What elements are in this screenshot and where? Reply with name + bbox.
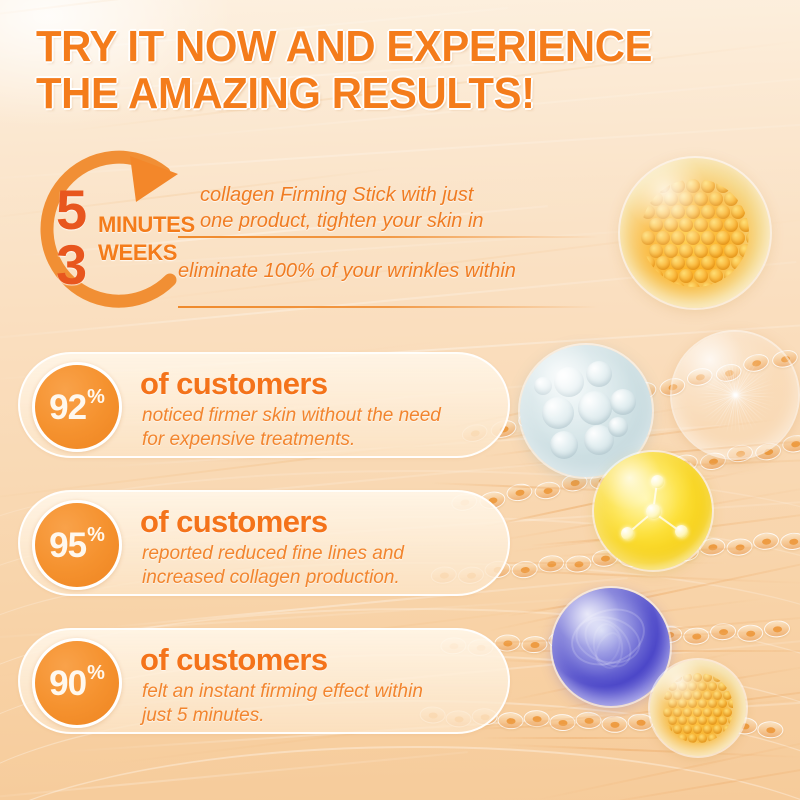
skin-cell [575, 633, 602, 651]
status-badge: 90 % [32, 638, 122, 728]
honeycomb-cell [663, 691, 672, 700]
cell-nucleus [654, 549, 664, 556]
cell-nucleus [557, 637, 566, 643]
molecule-node [621, 527, 634, 540]
cell-nucleus [600, 555, 610, 562]
honeycomb-cell [663, 708, 672, 717]
timeframe-unit-2: WEEKS [98, 240, 177, 266]
skin-cell [726, 537, 754, 557]
honeycomb-cell [713, 708, 722, 717]
radial-ray [695, 395, 736, 426]
cell-nucleus [546, 560, 556, 567]
cell-nucleus [714, 725, 723, 731]
cell-nucleus [790, 440, 800, 447]
skin-cell [560, 472, 589, 493]
honeycomb-cell [693, 708, 702, 717]
honeycomb-cell [728, 716, 732, 725]
collagen-fiber [531, 597, 769, 629]
honeycomb-cell [723, 725, 732, 734]
molecule-node [651, 475, 664, 488]
skin-cell [685, 366, 714, 389]
honeycomb-cell [718, 699, 727, 708]
skin-cell [565, 554, 593, 574]
timeframe-unit-1: MINUTES [98, 212, 195, 238]
cell-nucleus [584, 639, 593, 645]
cell-nucleus [638, 636, 647, 642]
honeycomb-cell [703, 691, 712, 700]
radial-rays [685, 345, 786, 446]
radial-ray [687, 395, 736, 410]
cell-nucleus [681, 549, 691, 556]
radial-ray [686, 386, 736, 396]
page-title: TRY IT NOW AND EXPERIENCE THE AMAZING RE… [36, 24, 720, 117]
cell-nucleus [780, 355, 790, 363]
stat-detail: felt an instant firming effect within ju… [142, 680, 502, 729]
radial-ray [703, 395, 736, 434]
cell-nucleus [574, 561, 584, 568]
molecule-bond [652, 482, 658, 512]
radial-ray [735, 395, 782, 416]
radial-ray [735, 395, 768, 434]
skin-cell [549, 714, 576, 732]
skin-cell [779, 532, 800, 552]
collagen-fiber [481, 418, 779, 458]
collagen-fiber [455, 567, 800, 584]
honeycomb-cell [668, 682, 677, 691]
radial-ray [712, 395, 736, 440]
honeycomb-cell [668, 716, 677, 725]
skin-cell [656, 625, 683, 643]
collagen-fiber [558, 739, 800, 800]
radial-ray [735, 395, 785, 399]
water-bubble [554, 367, 584, 397]
timeframe-copy-2: eliminate 100% of your wrinkles within [178, 258, 608, 284]
cell-nucleus [692, 633, 701, 639]
honeycomb-cell [723, 673, 732, 682]
skin-cell [601, 715, 628, 733]
honeycomb-cell [668, 699, 677, 708]
orange-radial-serum-sphere [672, 332, 798, 458]
skin-cell [629, 630, 656, 648]
skin-cell [671, 453, 700, 474]
honeycomb-cell [663, 725, 672, 734]
timeframe-block: 5 MINUTES 3 WEEKS collagen Firming Stick… [0, 140, 800, 330]
radial-ray [718, 347, 736, 395]
water-bubble [608, 417, 628, 437]
radial-ray [735, 395, 776, 426]
skin-cell [548, 631, 575, 649]
skin-cell [752, 531, 780, 551]
cell-nucleus [558, 719, 567, 725]
cell-nucleus [766, 727, 775, 733]
cell-nucleus [708, 543, 718, 550]
radial-ray [723, 346, 736, 395]
radial-ray [735, 386, 785, 396]
radial-ray [735, 395, 779, 421]
cell-nucleus [751, 359, 761, 367]
radial-ray [735, 395, 742, 445]
cell-nucleus [735, 544, 745, 551]
honeycomb-cell [693, 673, 702, 682]
cell-nucleus [735, 450, 745, 457]
honeycomb-serum-sphere-small [650, 660, 746, 756]
radial-ray [707, 395, 736, 438]
honeycomb-cell [673, 673, 682, 682]
swirl-streak [575, 609, 641, 676]
stat-heading: of customers [140, 642, 327, 678]
percent-symbol: % [87, 663, 105, 683]
water-bubble [542, 397, 574, 429]
honeycomb-cell [663, 673, 672, 682]
cell-nucleus [503, 640, 512, 646]
water-bubble [610, 389, 636, 415]
stat-heading: of customers [140, 366, 327, 402]
collagen-fiber [506, 434, 800, 466]
divider-line-2 [178, 306, 598, 308]
collagen-fiber [455, 650, 800, 652]
water-bubble [584, 425, 614, 455]
honeycomb-cell [688, 734, 697, 743]
water-bubble [550, 431, 578, 459]
honeycomb-cell [698, 734, 707, 743]
stat-percent-value: 95 [49, 528, 86, 563]
stat-row: 92 % of customers noticed firmer skin wi… [18, 352, 510, 458]
collagen-fiber [482, 482, 800, 544]
honeycomb-cell [718, 734, 727, 743]
collagen-fiber [556, 677, 800, 724]
skin-cell [741, 352, 770, 375]
skin-cell [653, 717, 680, 735]
honeycomb-cell [728, 699, 732, 708]
cell-nucleus [740, 723, 749, 729]
cell-nucleus [680, 459, 690, 466]
cell-nucleus [636, 719, 645, 725]
honeycomb-cell [688, 682, 697, 691]
collagen-fiber [484, 543, 800, 632]
skin-cell [644, 460, 673, 481]
radial-ray [698, 395, 735, 430]
radial-ray [735, 395, 784, 410]
honeycomb-cell [703, 673, 712, 682]
cell-nucleus [653, 467, 663, 474]
honeycomb-cell [688, 716, 697, 725]
collagen-fiber [480, 737, 720, 739]
skin-cell [672, 543, 700, 563]
radial-ray [735, 369, 779, 395]
radial-ray [689, 395, 736, 416]
cell-nucleus [532, 715, 541, 721]
honeycomb-cell [708, 682, 717, 691]
skin-cell [757, 721, 784, 739]
radial-ray [735, 345, 736, 395]
honeycomb-cell [678, 699, 687, 708]
skin-cross-section-illustration [470, 400, 800, 800]
honeycomb-cell [673, 691, 682, 700]
cell-nucleus [724, 369, 734, 377]
honeycomb-cell [698, 716, 707, 725]
honeycomb-cell [683, 691, 692, 700]
radial-ray [735, 345, 742, 395]
cell-nucleus [763, 448, 773, 455]
radial-ray [723, 395, 736, 444]
radial-ray [735, 395, 764, 438]
background-wave [0, 746, 800, 800]
honeycomb-cell [723, 691, 732, 700]
cell-nucleus [695, 373, 705, 381]
radial-ray [735, 346, 748, 395]
stat-row: 95 % of customers reported reduced fine … [18, 490, 510, 596]
cell-nucleus [584, 717, 593, 723]
skin-cell [731, 717, 758, 735]
cell-nucleus [746, 630, 755, 636]
radial-ray [707, 353, 736, 396]
radial-ray [735, 347, 753, 395]
skin-cell [591, 548, 619, 568]
honeycomb-cell [728, 682, 732, 691]
honeycomb-cell [673, 708, 682, 717]
radial-ray [703, 356, 736, 395]
status-badge: 95 % [32, 500, 122, 590]
radial-ray [735, 380, 784, 395]
radial-ray [735, 392, 785, 396]
skin-cell [575, 711, 602, 729]
skin-cell [781, 433, 800, 454]
yellow-molecule-serum-sphere [594, 452, 712, 570]
radial-ray [735, 356, 768, 395]
cell-nucleus [530, 641, 539, 647]
stat-detail: reported reduced fine lines and increase… [142, 542, 502, 591]
skin-cell [615, 462, 644, 483]
radial-ray [685, 395, 735, 399]
molecule-bond [652, 511, 681, 533]
percent-symbol: % [87, 525, 105, 545]
skin-cell [726, 443, 755, 464]
water-bubble [578, 391, 612, 425]
skin-cell [573, 394, 602, 417]
radial-ray [698, 360, 735, 395]
radial-ray [685, 392, 735, 396]
skin-cell [710, 623, 737, 641]
swirl-streak [563, 599, 653, 676]
honeycomb-cell [713, 691, 722, 700]
stat-percent-value: 92 [49, 390, 86, 425]
honeycomb-cell [678, 682, 687, 691]
radial-ray [695, 364, 736, 395]
honeycomb-cell [678, 716, 687, 725]
radial-ray [718, 395, 736, 443]
skin-cell [770, 347, 799, 370]
honeycomb-cell [723, 708, 732, 717]
cell-nucleus [598, 477, 608, 484]
divider-line-1 [178, 236, 598, 238]
promo-poster: TRY IT NOW AND EXPERIENCE THE AMAZING RE… [0, 0, 800, 800]
cell-nucleus [761, 538, 771, 545]
radial-ray [689, 375, 736, 396]
honeycomb-cell [703, 708, 712, 717]
radial-ray [735, 395, 785, 405]
skin-cell [537, 554, 565, 574]
skin-cell [764, 620, 791, 638]
radial-ray [735, 395, 753, 443]
blue-swirl-serum-sphere [552, 588, 670, 706]
honeycomb-cell [698, 699, 707, 708]
radial-ray [735, 353, 764, 396]
skin-cell [602, 628, 629, 646]
water-bubble [534, 377, 552, 395]
collagen-fiber [530, 529, 710, 546]
honeycomb-cell [718, 716, 727, 725]
honeycomb-cell [703, 725, 712, 734]
honeycomb-cell [668, 734, 677, 743]
radial-ray [712, 350, 736, 395]
skin-cell [705, 719, 732, 737]
skin-cell [714, 361, 743, 384]
skin-cell [533, 480, 562, 501]
honeycomb-cell [683, 708, 692, 717]
background-streak [0, 0, 357, 22]
stat-detail: noticed firmer skin without the need for… [142, 404, 502, 453]
stat-row: 90 % of customers felt an instant firmin… [18, 628, 510, 734]
cell-nucleus [543, 487, 553, 494]
radial-ray [735, 395, 772, 430]
honeycomb-cell [693, 725, 702, 734]
radial-ray [735, 375, 782, 396]
percent-symbol: % [87, 387, 105, 407]
honeycomb-cell [683, 725, 692, 734]
radial-ray [692, 395, 736, 421]
status-badge: 92 % [32, 362, 122, 452]
cell-nucleus [520, 566, 530, 573]
honeycomb-cell [693, 691, 702, 700]
skin-cell [737, 624, 764, 642]
swirl-streak [570, 610, 645, 671]
skin-cell [679, 715, 706, 733]
stat-percent-value: 90 [49, 666, 86, 701]
radial-ray [735, 395, 736, 445]
skin-cell [658, 376, 687, 399]
honeycomb-cell [673, 725, 682, 734]
swirl-streak [590, 628, 626, 670]
cell-nucleus [526, 415, 536, 423]
radial-ray [692, 369, 736, 395]
collagen-fiber [505, 743, 800, 758]
skin-cell [699, 537, 727, 557]
radial-ray [687, 380, 736, 395]
cell-nucleus [506, 718, 515, 724]
radial-ray [686, 395, 736, 405]
skin-cell [601, 390, 630, 413]
skin-cell [516, 408, 545, 431]
honeycomb-cell [698, 682, 707, 691]
cell-nucleus [662, 723, 671, 729]
molecule-node [675, 525, 688, 538]
cell-nucleus [667, 383, 677, 391]
stat-heading: of customers [140, 504, 327, 540]
collagen-fiber [534, 725, 800, 800]
radial-ray [729, 345, 736, 395]
honeycomb-cell [708, 734, 717, 743]
molecule-node [646, 504, 661, 519]
cell-nucleus [708, 458, 718, 465]
cell-nucleus [688, 721, 697, 727]
honeycomb-cell [678, 734, 687, 743]
radial-ray [735, 360, 772, 395]
collagen-fiber [555, 612, 800, 639]
skin-cell [645, 543, 673, 563]
cell-nucleus [611, 397, 621, 405]
collagen-fiber [507, 650, 742, 702]
timeframe-number-1: 5 [56, 182, 87, 238]
skin-cell [754, 441, 783, 462]
collagen-fiber [555, 475, 735, 477]
cell-nucleus [514, 489, 524, 496]
honeycomb-cell [713, 673, 722, 682]
water-bubble [586, 361, 612, 387]
background-streak [0, 751, 468, 800]
skin-cell [545, 404, 574, 427]
honeycomb-cell [708, 699, 717, 708]
collagen-fiber [506, 585, 684, 617]
timeframe-number-2: 3 [56, 237, 87, 293]
collagen-fiber [530, 453, 800, 473]
skin-cell [505, 482, 534, 503]
collagen-fiber [532, 662, 800, 714]
cell-nucleus [555, 411, 565, 419]
skin-cell [629, 380, 658, 403]
honeycomb-cell [683, 673, 692, 682]
cell-nucleus [570, 479, 580, 486]
radial-ray [735, 350, 759, 395]
molecule-bond [626, 511, 653, 535]
honeycomb-cell [718, 682, 727, 691]
honeycomb-cell [728, 734, 732, 743]
cell-nucleus [772, 626, 781, 632]
cell-nucleus [638, 387, 648, 395]
skin-cell [683, 627, 710, 645]
skin-cell [511, 560, 539, 580]
radial-ray [735, 395, 748, 444]
collagen-fiber [555, 544, 795, 556]
cell-nucleus [582, 401, 592, 409]
cell-nucleus [788, 538, 798, 545]
swirl-streak [590, 621, 626, 671]
skin-cell [521, 635, 548, 653]
water-bubble-cluster-sphere [520, 345, 652, 477]
honeycomb-texture [663, 673, 732, 742]
skin-cell [627, 713, 654, 731]
cell-nucleus [664, 631, 673, 637]
timeframe-copy-1: collagen Firming Stick with just one pro… [200, 182, 600, 234]
radial-ray [735, 364, 776, 395]
skin-cell [699, 451, 728, 472]
cell-nucleus [627, 555, 637, 562]
collagen-fiber [507, 498, 800, 553]
skin-cell [618, 549, 646, 569]
cell-nucleus [610, 721, 619, 727]
skin-cell [523, 710, 550, 728]
radial-ray [729, 395, 736, 445]
honeycomb-cell [688, 699, 697, 708]
cell-nucleus [611, 634, 620, 640]
skin-cell [588, 470, 617, 491]
cell-nucleus [718, 628, 727, 634]
honeycomb-cell [713, 725, 722, 734]
radial-ray [735, 395, 759, 440]
cell-nucleus [625, 469, 635, 476]
honeycomb-cell [708, 716, 717, 725]
